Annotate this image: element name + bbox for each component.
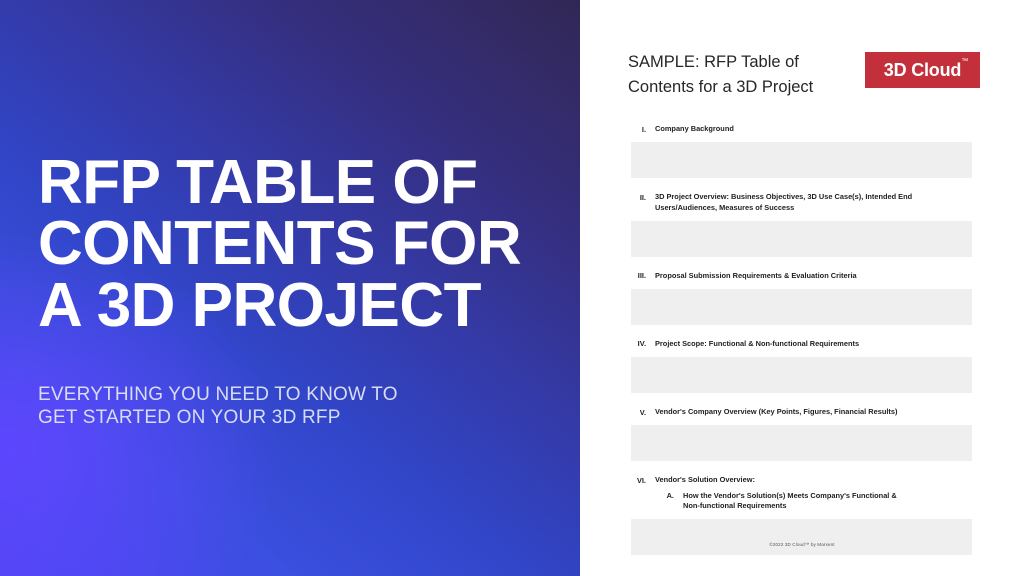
list-item: VI.Vendor's Solution Overview: (631, 475, 972, 490)
slide-root: RFP TABLE OF CONTENTS FOR A 3D PROJECT E… (0, 0, 1024, 576)
toc-item-row: II.3D Project Overview: Business Objecti… (631, 192, 972, 217)
toc-item-row: V.Vendor's Company Overview (Key Points,… (631, 407, 972, 422)
toc-item-row: VI.Vendor's Solution Overview: (631, 475, 972, 490)
page-title: RFP TABLE OF CONTENTS FOR A 3D PROJECT (38, 152, 558, 336)
toc-item-row: III.Proposal Submission Requirements & E… (631, 271, 972, 286)
list-item: I.Company Background (631, 124, 972, 178)
toc-answer-box (631, 425, 972, 461)
page-subtitle: EVERYTHING YOU NEED TO KNOW TO GET START… (38, 384, 508, 430)
toc-item-number: A. (631, 491, 683, 502)
toc-item-number: II. (631, 192, 655, 203)
brand-logo-label: 3D Cloud (884, 60, 961, 80)
list-item: II.3D Project Overview: Business Objecti… (631, 192, 972, 256)
list-item: IV.Project Scope: Functional & Non-funct… (631, 339, 972, 393)
document-heading: SAMPLE: RFP Table of Contents for a 3D P… (628, 50, 868, 100)
hero-content: RFP TABLE OF CONTENTS FOR A 3D PROJECT E… (38, 0, 558, 576)
document-footer: ©2022 3D Cloud™ by Marxent (580, 542, 1024, 547)
document-panel: SAMPLE: RFP Table of Contents for a 3D P… (580, 0, 1024, 576)
toc-item-label: 3D Project Overview: Business Objectives… (655, 192, 972, 213)
brand-logo-text: 3D Cloud ™ (884, 60, 961, 81)
toc-item-number: VI. (631, 475, 655, 486)
list-item: III.Proposal Submission Requirements & E… (631, 271, 972, 325)
toc-item-label: How the Vendor's Solution(s) Meets Compa… (683, 491, 972, 512)
toc-item-row: IV.Project Scope: Functional & Non-funct… (631, 339, 972, 354)
toc-item-label: Company Background (655, 124, 972, 135)
toc-answer-box (631, 289, 972, 325)
trademark-icon: ™ (961, 58, 968, 65)
toc-answer-box (631, 221, 972, 257)
toc-subitem-row: A.How the Vendor's Solution(s) Meets Com… (631, 491, 972, 516)
brand-logo: 3D Cloud ™ (865, 52, 980, 88)
toc-item-number: III. (631, 271, 655, 282)
toc-item-row: I.Company Background (631, 124, 972, 139)
toc-item-label: Vendor's Solution Overview: (655, 475, 972, 486)
toc-answer-box (631, 142, 972, 178)
toc-item-number: I. (631, 124, 655, 135)
toc-item-label: Proposal Submission Requirements & Evalu… (655, 271, 972, 282)
toc-item-label: Project Scope: Functional & Non-function… (655, 339, 972, 350)
hero-panel: RFP TABLE OF CONTENTS FOR A 3D PROJECT E… (0, 0, 580, 576)
toc-answer-box (631, 357, 972, 393)
toc-item-label: Vendor's Company Overview (Key Points, F… (655, 407, 972, 418)
toc-item-number: V. (631, 407, 655, 418)
toc-item-number: IV. (631, 339, 655, 350)
table-of-contents: I.Company BackgroundII.3D Project Overvi… (631, 124, 972, 569)
list-item: V.Vendor's Company Overview (Key Points,… (631, 407, 972, 461)
toc-answer-box (631, 519, 972, 555)
